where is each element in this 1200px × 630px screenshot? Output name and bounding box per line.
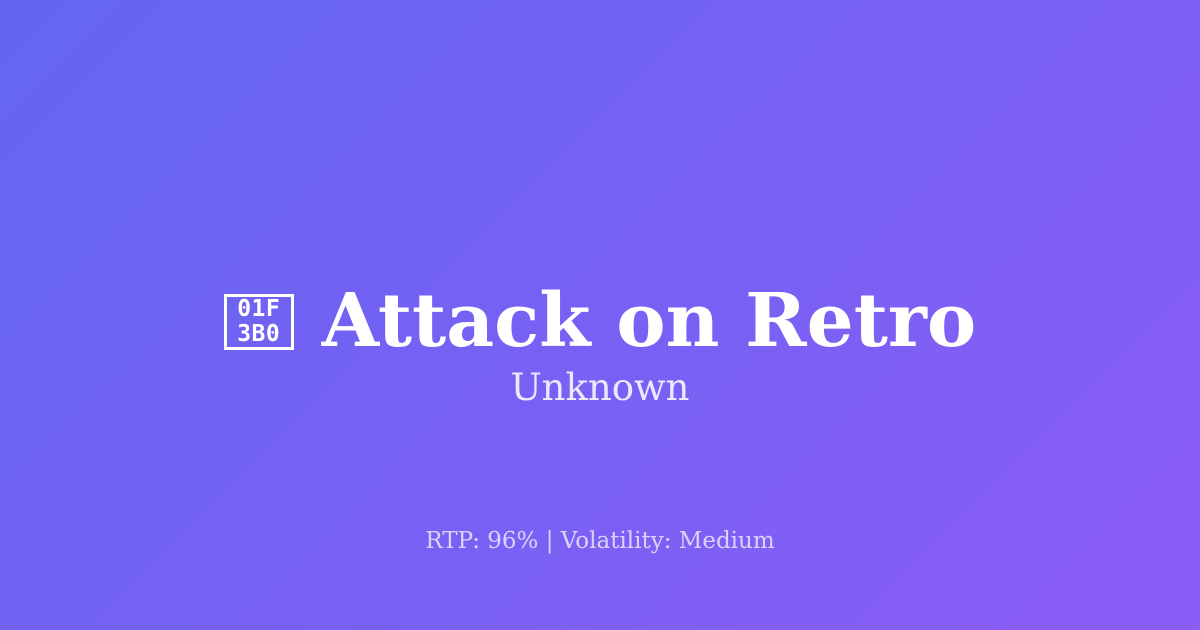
- slot-machine-icon: 01F 3B0: [224, 294, 294, 350]
- page-title: Attack on Retro: [322, 283, 977, 361]
- game-provider: Unknown: [0, 366, 1200, 410]
- game-stats: RTP: 96% | Volatility: Medium: [0, 528, 1200, 556]
- og-card: 01F 3B0 Attack on Retro Unknown RTP: 96%…: [0, 0, 1200, 630]
- tofu-codepoint-line-2: 3B0: [237, 322, 280, 347]
- tofu-codepoint-line-1: 01F: [237, 297, 280, 322]
